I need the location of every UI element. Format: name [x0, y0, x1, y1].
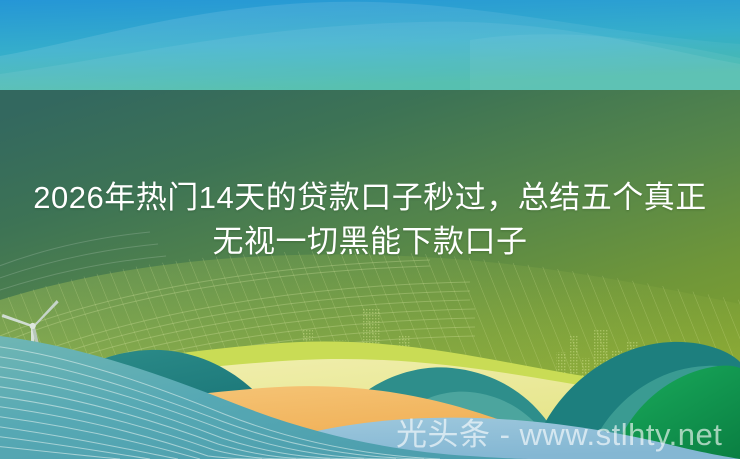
poster-image: 2026年热门14天的贷款口子秒过，总结五个真正无视一切黑能下款口子 光头条 -… [0, 0, 740, 459]
sky-band [0, 0, 740, 91]
watermark-text: 光头条 - www.stlhty.net [396, 417, 722, 453]
page-title: 2026年热门14天的贷款口子秒过，总结五个真正无视一切黑能下款口子 [0, 176, 740, 264]
